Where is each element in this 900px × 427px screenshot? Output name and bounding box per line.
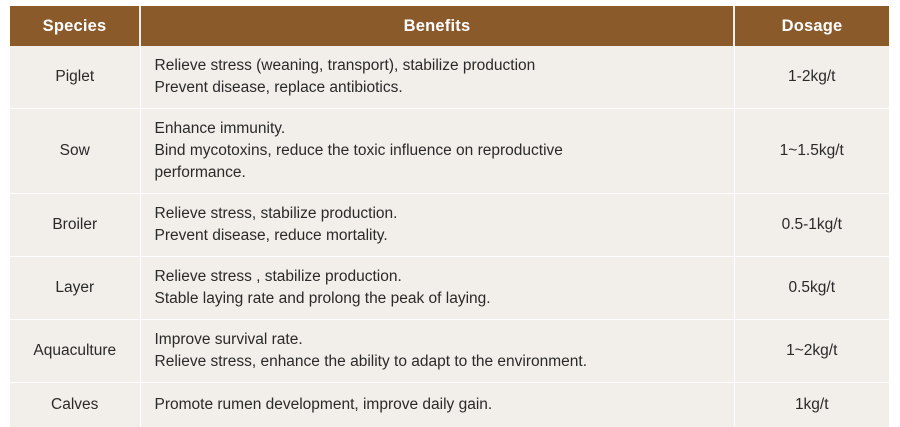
cell-species: Calves bbox=[10, 383, 140, 427]
table-row: Piglet Relieve stress (weaning, transpor… bbox=[10, 46, 889, 109]
column-header-benefits: Benefits bbox=[140, 6, 734, 46]
cell-benefits: Promote rumen development, improve daily… bbox=[140, 383, 734, 427]
table-row: Aquaculture Improve survival rate. Relie… bbox=[10, 320, 889, 383]
table-row: Layer Relieve stress , stabilize product… bbox=[10, 257, 889, 320]
cell-dosage: 0.5-1kg/t bbox=[734, 194, 889, 257]
cell-benefits: Relieve stress, stabilize production. Pr… bbox=[140, 194, 734, 257]
cell-benefits: Improve survival rate. Relieve stress, e… bbox=[140, 320, 734, 383]
cell-benefits: Relieve stress (weaning, transport), sta… bbox=[140, 46, 734, 109]
cell-benefits: Relieve stress , stabilize production. S… bbox=[140, 257, 734, 320]
benefit-line: Enhance immunity. bbox=[155, 118, 724, 140]
species-benefits-table: Species Benefits Dosage Piglet Relieve s… bbox=[10, 6, 889, 427]
benefit-line: Improve survival rate. bbox=[155, 329, 724, 351]
benefit-line: Relieve stress, enhance the ability to a… bbox=[155, 351, 724, 373]
table-body: Piglet Relieve stress (weaning, transpor… bbox=[10, 46, 889, 427]
column-header-dosage: Dosage bbox=[734, 6, 889, 46]
cell-benefits: Enhance immunity. Bind mycotoxins, reduc… bbox=[140, 109, 734, 194]
cell-dosage: 1-2kg/t bbox=[734, 46, 889, 109]
cell-species: Layer bbox=[10, 257, 140, 320]
benefit-line: Prevent disease, replace antibiotics. bbox=[155, 77, 724, 99]
benefit-line: performance. bbox=[155, 162, 724, 184]
table-header-row: Species Benefits Dosage bbox=[10, 6, 889, 46]
cell-species: Broiler bbox=[10, 194, 140, 257]
table-row: Sow Enhance immunity. Bind mycotoxins, r… bbox=[10, 109, 889, 194]
cell-dosage: 0.5kg/t bbox=[734, 257, 889, 320]
species-benefits-table-container: Species Benefits Dosage Piglet Relieve s… bbox=[10, 6, 889, 427]
cell-species: Piglet bbox=[10, 46, 140, 109]
benefit-line: Promote rumen development, improve daily… bbox=[155, 394, 724, 416]
cell-species: Aquaculture bbox=[10, 320, 140, 383]
table-header: Species Benefits Dosage bbox=[10, 6, 889, 46]
benefit-line: Relieve stress (weaning, transport), sta… bbox=[155, 55, 724, 77]
cell-species: Sow bbox=[10, 109, 140, 194]
cell-dosage: 1kg/t bbox=[734, 383, 889, 427]
benefit-line: Relieve stress , stabilize production. bbox=[155, 266, 724, 288]
column-header-species: Species bbox=[10, 6, 140, 46]
benefit-line: Prevent disease, reduce mortality. bbox=[155, 225, 724, 247]
benefit-line: Bind mycotoxins, reduce the toxic influe… bbox=[155, 140, 724, 162]
cell-dosage: 1~2kg/t bbox=[734, 320, 889, 383]
benefit-line: Stable laying rate and prolong the peak … bbox=[155, 288, 724, 310]
table-row: Broiler Relieve stress, stabilize produc… bbox=[10, 194, 889, 257]
table-row: Calves Promote rumen development, improv… bbox=[10, 383, 889, 427]
benefit-line: Relieve stress, stabilize production. bbox=[155, 203, 724, 225]
cell-dosage: 1~1.5kg/t bbox=[734, 109, 889, 194]
